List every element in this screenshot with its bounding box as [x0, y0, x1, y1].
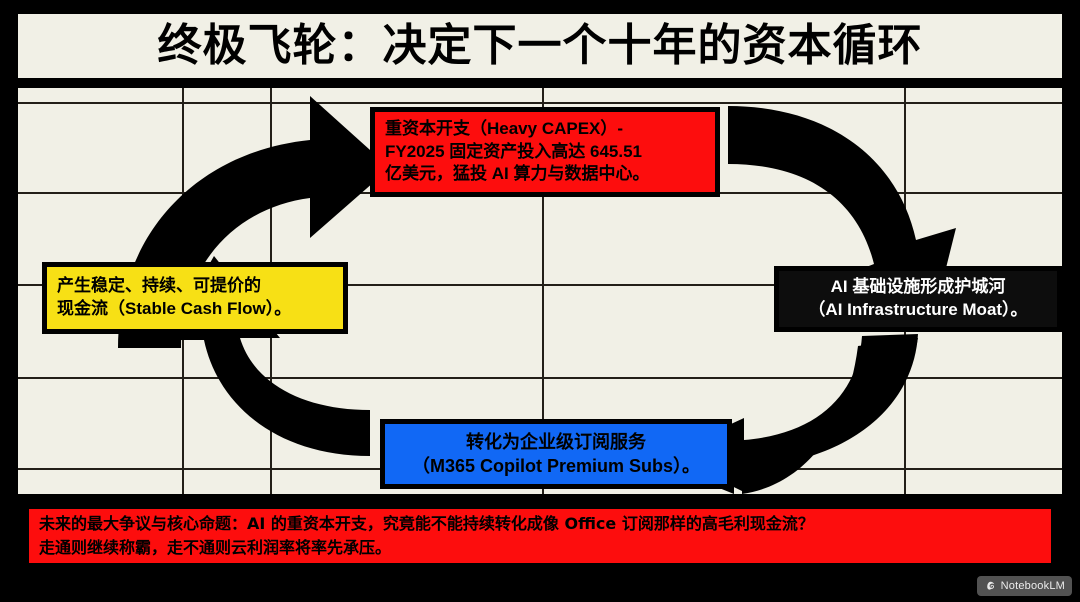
flywheel-diagram: 重资本开支（Heavy CAPEX）- FY2025 固定资产投入高达 645.… — [18, 88, 1062, 494]
node-heavy-capex-label: 重资本开支（Heavy CAPEX）- FY2025 固定资产投入高达 645.… — [375, 118, 715, 187]
notebooklm-icon — [984, 580, 997, 593]
notebooklm-watermark: NotebookLM — [977, 576, 1072, 596]
node-heavy-capex[interactable]: 重资本开支（Heavy CAPEX）- FY2025 固定资产投入高达 645.… — [370, 107, 720, 197]
conclusion-banner-line-2: 走通则继续称霸，走不通则云利润率将率先承压。 — [39, 536, 1041, 560]
node-enterprise-subscriptions[interactable]: 转化为企业级订阅服务 （M365 Copilot Premium Subs）。 — [380, 419, 732, 489]
node-ai-infrastructure-moat[interactable]: AI 基础设施形成护城河 （AI Infrastructure Moat）。 — [774, 266, 1062, 332]
page-title: 终极飞轮：决定下一个十年的资本循环 — [158, 24, 923, 68]
node-ai-infrastructure-moat-label: AI 基础设施形成护城河 （AI Infrastructure Moat）。 — [798, 276, 1037, 322]
node-stable-cash-flow-label: 产生稳定、持续、可提价的 现金流（Stable Cash Flow）。 — [47, 275, 343, 321]
conclusion-banner-line-1: 未来的最大争议与核心命题：AI 的重资本开支，究竟能不能持续转化成像 Offic… — [39, 512, 1041, 536]
node-stable-cash-flow[interactable]: 产生稳定、持续、可提价的 现金流（Stable Cash Flow）。 — [42, 262, 348, 334]
notebooklm-watermark-label: NotebookLM — [1001, 580, 1065, 592]
node-enterprise-subscriptions-label: 转化为企业级订阅服务 （M365 Copilot Premium Subs）。 — [402, 430, 710, 479]
title-bar: 终极飞轮：决定下一个十年的资本循环 — [18, 14, 1062, 78]
slide-canvas: 终极飞轮：决定下一个十年的资本循环 重资本开支（Heavy CAPEX）- FY — [0, 0, 1080, 602]
conclusion-banner: 未来的最大争议与核心命题：AI 的重资本开支，究竟能不能持续转化成像 Offic… — [24, 504, 1056, 568]
